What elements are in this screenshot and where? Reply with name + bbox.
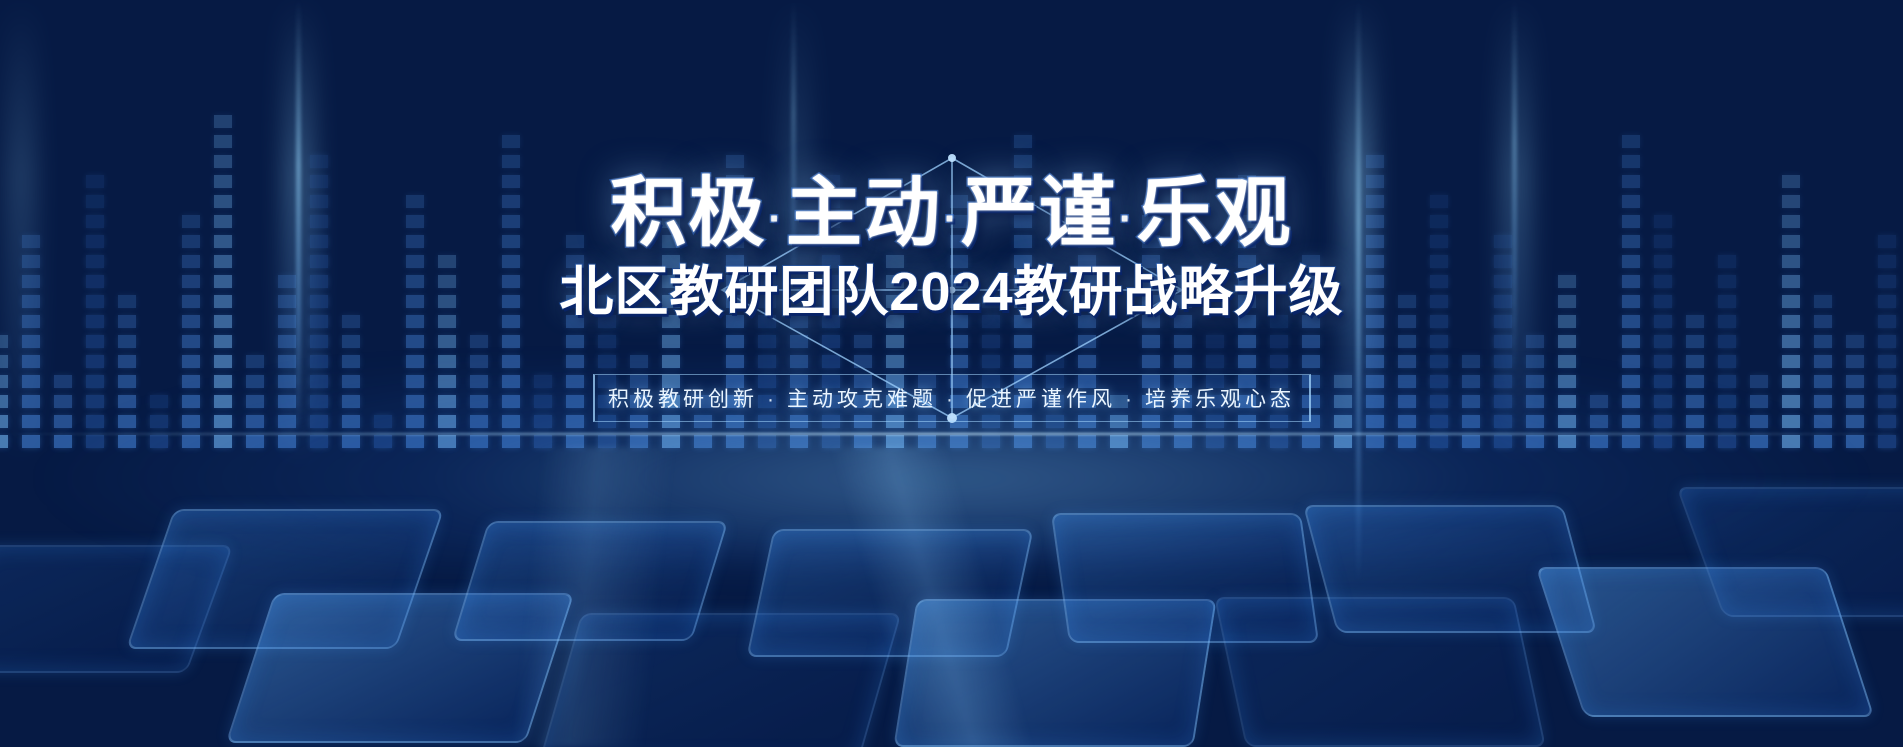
pixel-block bbox=[1686, 335, 1704, 348]
tagline-item-2: 主动攻克难题 bbox=[787, 388, 937, 411]
pixel-block bbox=[1462, 355, 1480, 368]
pixel-block bbox=[1558, 335, 1576, 348]
pixel-block bbox=[726, 335, 744, 348]
pixel-block bbox=[1686, 355, 1704, 368]
pixel-block bbox=[822, 335, 840, 348]
tagline-item-3: 促进严谨作风 bbox=[966, 388, 1116, 411]
pixel-block bbox=[1814, 335, 1832, 348]
pixel-block bbox=[1430, 355, 1448, 368]
pixel-block bbox=[1782, 335, 1800, 348]
pixel-block bbox=[118, 335, 136, 348]
pixel-block bbox=[1014, 355, 1032, 368]
pixel-block bbox=[1622, 155, 1640, 168]
pixel-block bbox=[1046, 355, 1064, 368]
pixel-block bbox=[726, 155, 744, 168]
pixel-block bbox=[502, 355, 520, 368]
pixel-block bbox=[854, 335, 872, 348]
pixel-block bbox=[1718, 355, 1736, 368]
title-separator: · bbox=[944, 197, 959, 241]
pixel-block bbox=[278, 335, 296, 348]
pixel-block bbox=[1302, 335, 1320, 348]
pixel-block bbox=[342, 335, 360, 348]
pixel-block bbox=[1366, 155, 1384, 168]
tagline-separator: · bbox=[1125, 388, 1136, 411]
pixel-block bbox=[406, 355, 424, 368]
tagline-bar: 积极教研创新·主动攻克难题·促进严谨作风·培养乐观心态 bbox=[593, 374, 1311, 422]
title-separator: · bbox=[1119, 197, 1134, 241]
pixel-block bbox=[886, 335, 904, 348]
pixel-block bbox=[1270, 355, 1288, 368]
pixel-block bbox=[1206, 355, 1224, 368]
pixel-block bbox=[662, 335, 680, 348]
pixel-block bbox=[790, 335, 808, 348]
pixel-block bbox=[566, 355, 584, 368]
pixel-block bbox=[982, 335, 1000, 348]
pixel-block bbox=[1526, 335, 1544, 348]
banner-root: 积极·主动·严谨·乐观 北区教研团队2024教研战略升级 积极教研创新·主动攻克… bbox=[0, 0, 1903, 747]
pixel-block bbox=[214, 115, 232, 128]
pixel-block bbox=[1142, 335, 1160, 348]
tagline-separator: · bbox=[767, 388, 778, 411]
pixel-block bbox=[1846, 335, 1864, 348]
pixel-block bbox=[630, 355, 648, 368]
pixel-block bbox=[182, 335, 200, 348]
pixel-block bbox=[22, 335, 40, 348]
pixel-block bbox=[1526, 355, 1544, 368]
pixel-block bbox=[1366, 355, 1384, 368]
pixel-block bbox=[1238, 335, 1256, 348]
pixel-block bbox=[982, 355, 1000, 368]
pixel-block bbox=[1558, 355, 1576, 368]
floating-plates-layer bbox=[0, 417, 1903, 747]
pixel-block bbox=[1014, 155, 1032, 168]
pixel-block bbox=[1654, 335, 1672, 348]
pixel-block bbox=[214, 335, 232, 348]
pixel-block bbox=[1846, 355, 1864, 368]
pixel-block bbox=[1494, 355, 1512, 368]
pixel-block bbox=[1430, 335, 1448, 348]
pixel-block bbox=[1238, 355, 1256, 368]
pixel-block bbox=[726, 355, 744, 368]
pixel-block bbox=[1302, 355, 1320, 368]
pixel-block bbox=[1878, 335, 1896, 348]
tagline-item-4: 培养乐观心态 bbox=[1145, 388, 1295, 411]
pixel-block bbox=[246, 355, 264, 368]
pixel-block bbox=[790, 355, 808, 368]
pixel-block bbox=[1270, 335, 1288, 348]
pixel-block bbox=[1014, 335, 1032, 348]
pixel-block bbox=[822, 355, 840, 368]
pixel-block bbox=[438, 355, 456, 368]
pixel-block bbox=[1142, 355, 1160, 368]
pixel-block bbox=[22, 355, 40, 368]
pixel-block bbox=[1174, 335, 1192, 348]
banner-subtitle: 北区教研团队2024教研战略升级 bbox=[0, 265, 1903, 319]
pixel-block bbox=[1078, 335, 1096, 348]
pixel-block bbox=[214, 355, 232, 368]
pixel-block bbox=[950, 355, 968, 368]
pixel-block bbox=[1014, 135, 1032, 148]
pixel-block bbox=[406, 335, 424, 348]
pixel-block bbox=[950, 335, 968, 348]
pixel-block bbox=[502, 155, 520, 168]
pixel-block bbox=[1718, 335, 1736, 348]
pixel-block bbox=[1494, 335, 1512, 348]
pixel-block bbox=[438, 335, 456, 348]
pixel-block bbox=[342, 355, 360, 368]
pixel-block bbox=[310, 355, 328, 368]
pixel-block bbox=[598, 355, 616, 368]
pixel-block bbox=[886, 355, 904, 368]
pixel-block bbox=[310, 155, 328, 168]
pixel-block bbox=[662, 355, 680, 368]
banner-title: 积极·主动·严谨·乐观 bbox=[0, 176, 1903, 252]
pixel-block bbox=[214, 155, 232, 168]
pixel-block bbox=[0, 355, 8, 368]
pixel-block bbox=[1622, 135, 1640, 148]
pixel-block bbox=[182, 355, 200, 368]
pixel-block bbox=[470, 355, 488, 368]
pixel-block bbox=[598, 335, 616, 348]
pixel-block bbox=[854, 355, 872, 368]
title-word-1: 积极 bbox=[611, 171, 767, 256]
tagline-item-1: 积极教研创新 bbox=[608, 388, 758, 411]
pixel-block bbox=[1782, 355, 1800, 368]
pixel-block bbox=[1878, 355, 1896, 368]
pixel-block bbox=[502, 135, 520, 148]
pixel-block bbox=[758, 355, 776, 368]
title-separator: · bbox=[769, 197, 784, 241]
pixel-block bbox=[214, 135, 232, 148]
pixel-block bbox=[278, 355, 296, 368]
pixel-block bbox=[758, 335, 776, 348]
pixel-block bbox=[1814, 355, 1832, 368]
pixel-block bbox=[310, 335, 328, 348]
pixel-block bbox=[1174, 355, 1192, 368]
title-word-3: 严谨 bbox=[961, 171, 1117, 256]
pixel-block bbox=[502, 335, 520, 348]
pixel-block bbox=[86, 355, 104, 368]
pixel-block bbox=[470, 335, 488, 348]
title-word-4: 乐观 bbox=[1136, 171, 1292, 256]
pixel-block bbox=[1622, 355, 1640, 368]
pixel-block bbox=[118, 355, 136, 368]
pixel-block bbox=[566, 335, 584, 348]
pixel-block bbox=[1398, 355, 1416, 368]
tagline-separator: · bbox=[946, 388, 957, 411]
pixel-block bbox=[1078, 355, 1096, 368]
pixel-block bbox=[1206, 335, 1224, 348]
pixel-block bbox=[1622, 335, 1640, 348]
tagline-text: 积极教研创新·主动攻克难题·促进严谨作风·培养乐观心态 bbox=[608, 383, 1295, 413]
pixel-block bbox=[0, 335, 8, 348]
pixel-block bbox=[86, 335, 104, 348]
pixel-block bbox=[1654, 355, 1672, 368]
pixel-block bbox=[1398, 335, 1416, 348]
title-word-2: 主动 bbox=[786, 171, 942, 256]
pixel-block bbox=[1366, 335, 1384, 348]
